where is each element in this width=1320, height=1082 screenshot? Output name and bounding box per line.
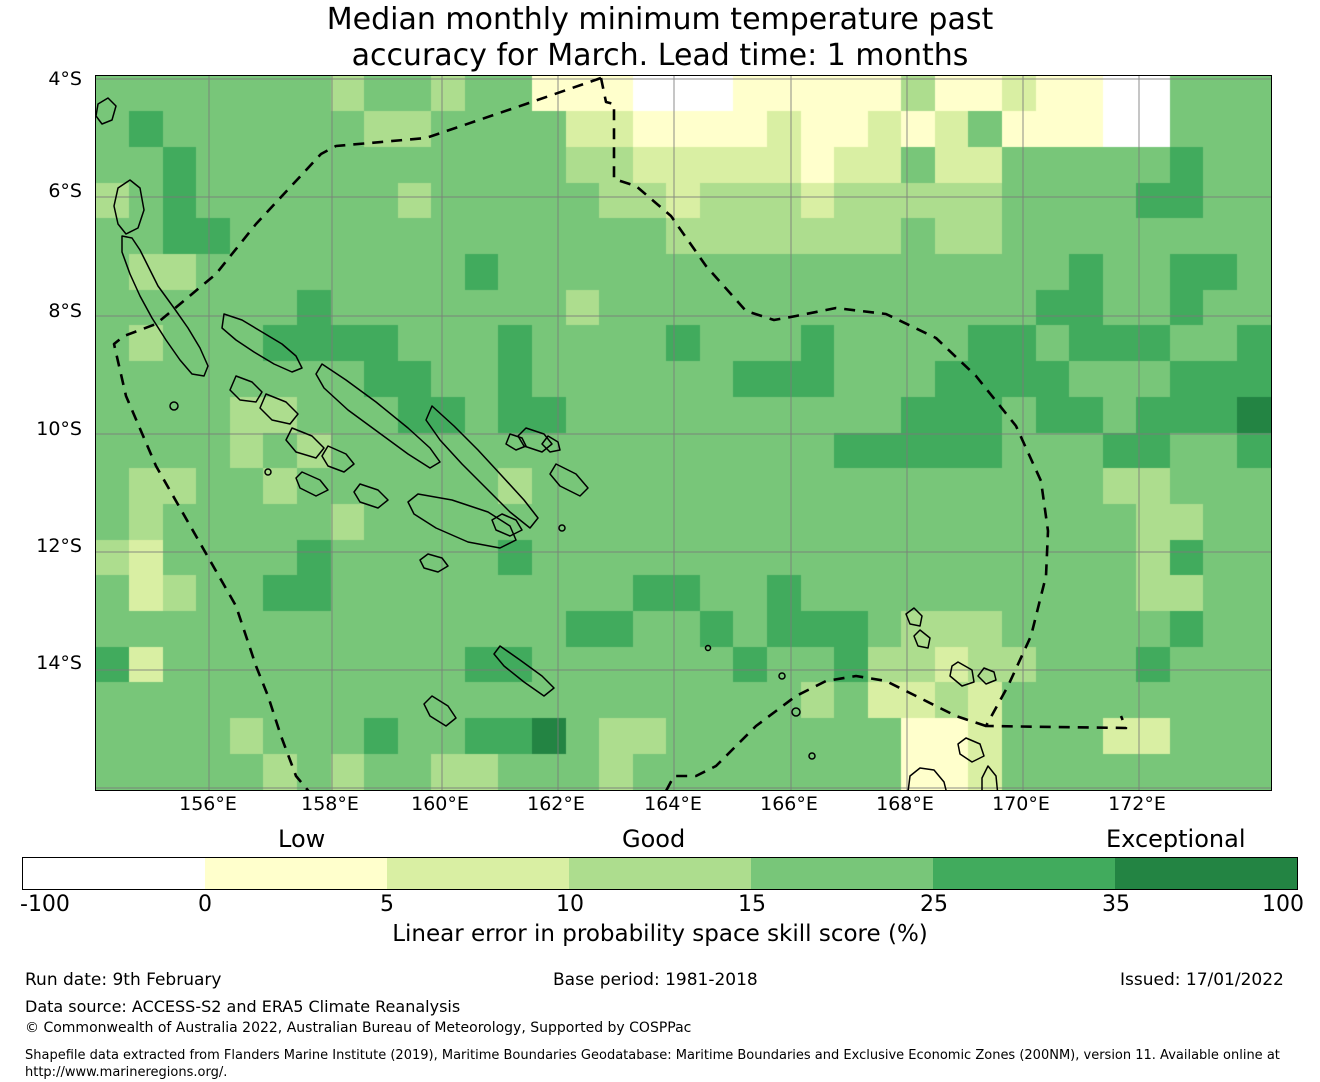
- colorbar-tick: 0: [198, 893, 212, 917]
- y-tick-label: 12°S: [0, 537, 82, 556]
- x-tick-label: 172°E: [1077, 795, 1197, 814]
- x-tick-label: 162°E: [496, 795, 616, 814]
- colorbar-tick: 15: [738, 893, 766, 917]
- map-vectors: [96, 76, 1271, 790]
- map-plot-area: [95, 75, 1272, 791]
- colorbar-segment-2: [387, 858, 569, 889]
- footer-base-period: Base period: 1981-2018: [553, 970, 758, 990]
- colorbar-tick: 5: [380, 893, 394, 917]
- colorbar-segment-6: [1115, 858, 1297, 889]
- colorbar-tick: 10: [556, 893, 584, 917]
- x-tick-label: 170°E: [961, 795, 1081, 814]
- colorbar-tick: 100: [1262, 893, 1304, 917]
- coastlines: [96, 98, 998, 790]
- x-tick-label: 166°E: [729, 795, 849, 814]
- colorbar-segment-5: [933, 858, 1115, 889]
- page-title: Median monthly minimum temperature past …: [0, 2, 1320, 74]
- x-tick-label: 168°E: [845, 795, 965, 814]
- footer-data-source: Data source: ACCESS-S2 and ERA5 Climate …: [25, 997, 460, 1016]
- x-tick-label: 156°E: [148, 795, 268, 814]
- x-tick-label: 158°E: [270, 795, 390, 814]
- y-tick-label: 4°S: [0, 70, 82, 89]
- colorbar-category-good: Good: [622, 826, 685, 852]
- footer-run-date: Run date: 9th February: [25, 970, 221, 990]
- x-tick-label: 160°E: [380, 795, 500, 814]
- y-tick-label: 8°S: [0, 302, 82, 321]
- footer-shapefile-line-2: http://www.marineregions.org/.: [25, 1063, 227, 1082]
- colorbar-category-exceptional: Exceptional: [1106, 826, 1246, 852]
- colorbar-axis-label: Linear error in probability space skill …: [0, 921, 1320, 947]
- colorbar-tick: -100: [20, 893, 70, 917]
- colorbar-tick: 25: [920, 893, 948, 917]
- x-tick-label: 164°E: [613, 795, 733, 814]
- y-tick-label: 10°S: [0, 420, 82, 439]
- colorbar-segment-1: [205, 858, 387, 889]
- colorbar-tick: 35: [1102, 893, 1130, 917]
- footer-copyright: © Commonwealth of Australia 2022, Austra…: [25, 1019, 691, 1038]
- colorbar-segment-0: [23, 858, 205, 889]
- y-tick-label: 14°S: [0, 654, 82, 673]
- colorbar: [22, 857, 1298, 890]
- footer-issued-date: Issued: 17/01/2022: [1120, 970, 1284, 990]
- colorbar-category-low: Low: [278, 826, 325, 852]
- colorbar-segment-4: [751, 858, 933, 889]
- eez-boundary-solomon: [114, 78, 1126, 790]
- y-tick-label: 6°S: [0, 182, 82, 201]
- colorbar-segment-3: [569, 858, 751, 889]
